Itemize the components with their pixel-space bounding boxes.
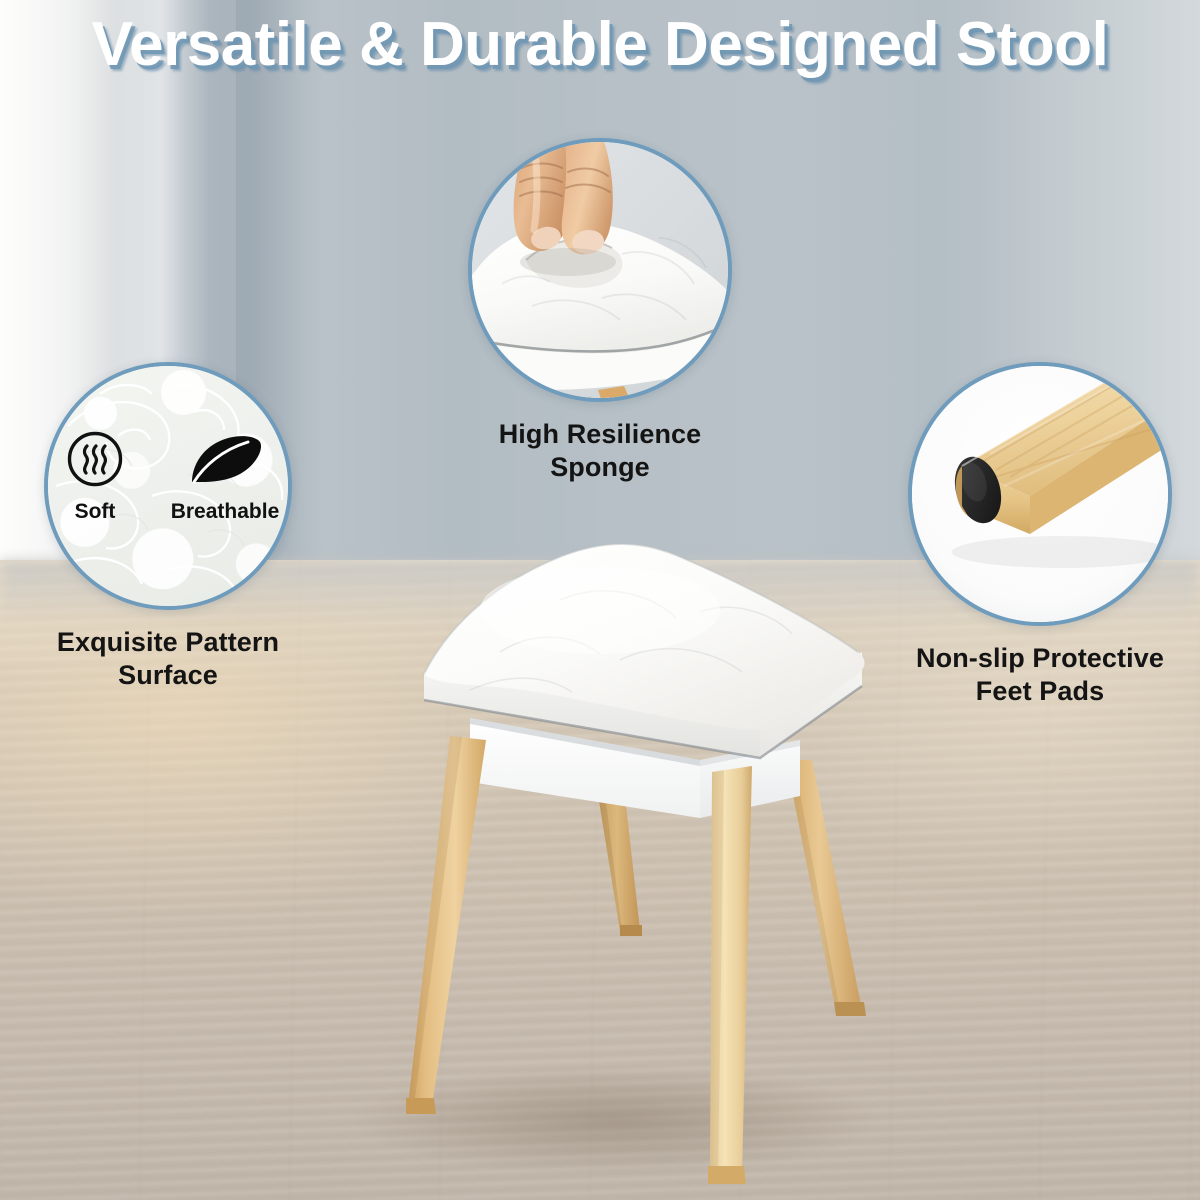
caption-line: Surface: [44, 659, 292, 692]
stool-leg-front-left-foot: [406, 1098, 436, 1114]
badge-soft-label: Soft: [51, 500, 139, 524]
caption-line: Feet Pads: [908, 675, 1172, 708]
stool-leg-front-right-foot: [708, 1166, 746, 1184]
finger-pressing-cushion-illustration: [472, 142, 728, 398]
stool-seat-highlight: [480, 566, 720, 654]
callout-non-slip-feet-pads-caption: Non-slip Protective Feet Pads: [908, 642, 1172, 708]
caption-line: High Resilience: [468, 418, 732, 451]
badge-breathable: Breathable: [165, 428, 285, 524]
soft-heat-waves-icon: [51, 428, 139, 490]
callout-pattern-surface-image: Soft Breathable: [44, 362, 292, 610]
product-feature-image: Versatile & Durable Designed Stool: [0, 0, 1200, 1200]
callout-high-resilience-sponge-caption: High Resilience Sponge: [468, 418, 732, 484]
wooden-leg-felt-pad-illustration: [912, 366, 1168, 622]
stool-leg-back-left-foot: [620, 925, 642, 936]
callout-non-slip-feet-pads-image: [908, 362, 1172, 626]
callout-non-slip-feet-pads[interactable]: Non-slip Protective Feet Pads: [908, 362, 1172, 708]
callout-high-resilience-sponge-image: [468, 138, 732, 402]
stool-leg-back-right-foot: [834, 1002, 866, 1016]
fabric-badge-row: Soft Breathable: [48, 428, 288, 524]
callout-pattern-surface-caption: Exquisite Pattern Surface: [44, 626, 292, 692]
badge-breathable-label: Breathable: [165, 500, 285, 524]
badge-soft: Soft: [51, 428, 139, 524]
callout-high-resilience-sponge[interactable]: High Resilience Sponge: [468, 138, 732, 484]
caption-line: Non-slip Protective: [908, 642, 1172, 675]
callout-pattern-surface[interactable]: Soft Breathable Exquisite Pattern Surfac…: [44, 362, 292, 692]
caption-line: Exquisite Pattern: [44, 626, 292, 659]
caption-line: Sponge: [468, 451, 732, 484]
page-title: Versatile & Durable Designed Stool: [0, 14, 1200, 76]
breathable-leaf-icon: [165, 428, 285, 490]
